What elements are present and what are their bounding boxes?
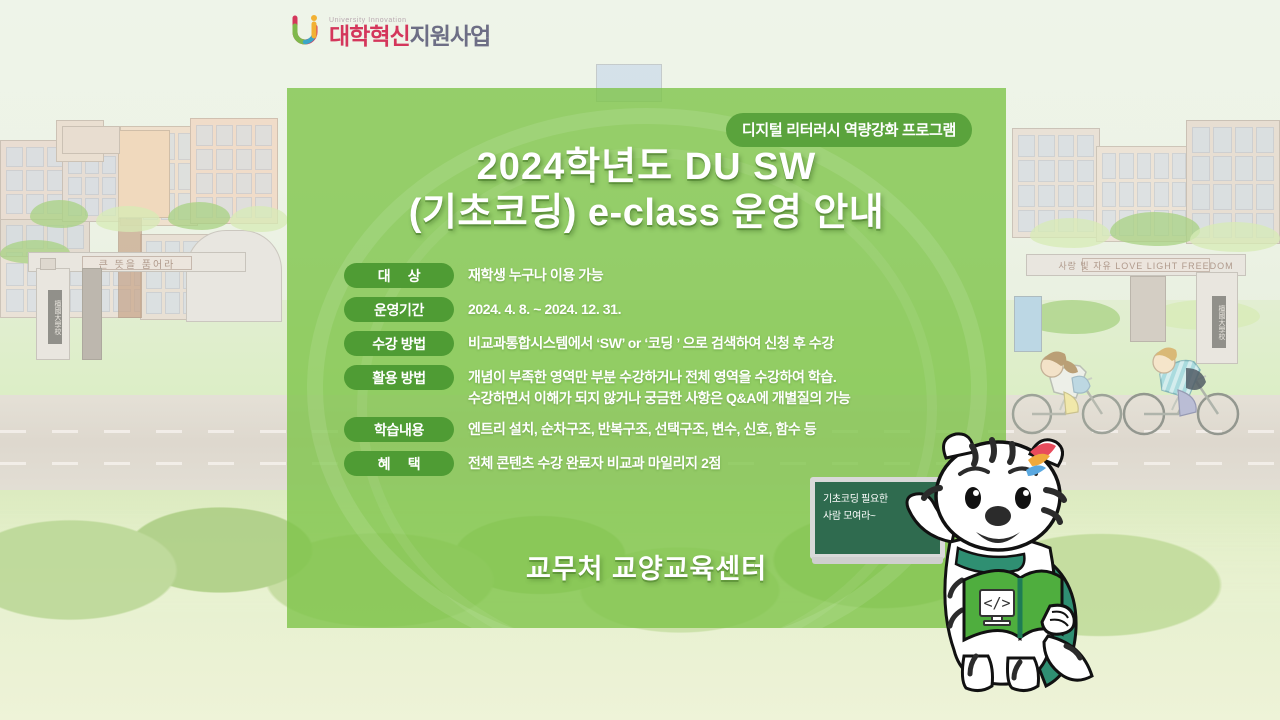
svg-text:</>: </> — [983, 594, 1010, 612]
program-badge: 디지털 리터러시 역량강화 프로그램 — [726, 113, 972, 147]
info-value: 엔트리 설치, 순차구조, 반복구조, 선택구조, 변수, 신호, 함수 등 — [454, 417, 816, 440]
gate-left-pillar-text: 檀國大學校 — [48, 290, 62, 344]
building-right-rounded — [186, 230, 282, 322]
info-label: 학습내용 — [344, 417, 454, 442]
info-value-line: 2024. 4. 8. ~ 2024. 12. 31. — [468, 299, 621, 320]
info-label: 운영기간 — [344, 297, 454, 322]
logo-title-red: 대학혁신 — [329, 23, 410, 49]
info-value: 2024. 4. 8. ~ 2024. 12. 31. — [454, 297, 621, 320]
cyclist-right — [1120, 316, 1250, 441]
gate-left-lamp — [40, 258, 56, 270]
page-title: 2024학년도 DU SW (기초코딩) e-class 운영 안내 — [287, 144, 1006, 237]
logo-title: 대학혁신지원사업 — [329, 25, 490, 48]
info-value-line: 엔트리 설치, 순차구조, 반복구조, 선택구조, 변수, 신호, 함수 등 — [468, 419, 816, 440]
info-row: 활용 방법 개념이 부족한 영역만 부분 수강하거나 전체 영역을 수강하여 학… — [344, 365, 984, 409]
info-label: 혜 택 — [344, 451, 454, 476]
info-value: 개념이 부족한 영역만 부분 수강하거나 전체 영역을 수강하여 학습. 수강하… — [454, 365, 850, 409]
shrub-1 — [30, 200, 88, 228]
shrub-7 — [1110, 212, 1200, 246]
gate-left-pillar-b — [82, 268, 102, 360]
info-label: 수강 방법 — [344, 331, 454, 356]
building-tall-beige — [62, 126, 120, 154]
info-value-line: 개념이 부족한 영역만 부분 수강하거나 전체 영역을 수강하여 학습. — [468, 367, 850, 388]
university-innovation-logo: University Innovation 대학혁신지원사업 — [292, 14, 490, 48]
info-label: 활용 방법 — [344, 365, 454, 390]
info-value-line-2: 수강하면서 이해가 되지 않거나 궁금한 사항은 Q&A에 개별질의 가능 — [468, 388, 850, 409]
gate-right-sign: 사랑 빛 자유 LOVE LIGHT FREEDOM — [1082, 258, 1210, 272]
tiger-mascot-icon: </> — [880, 430, 1125, 700]
shrub-3 — [168, 202, 230, 230]
title-line-1: 2024학년도 DU SW — [287, 144, 1006, 190]
shrub-4 — [230, 206, 288, 232]
shrub-8 — [1190, 222, 1280, 252]
shrub-2 — [96, 206, 160, 232]
u-j-logo-icon — [292, 14, 322, 48]
building-center-orange — [118, 130, 170, 218]
info-value-line: 비교과통합시스템에서 ‘SW’ or ‘코딩 ’ 으로 검색하여 신청 후 수강 — [468, 333, 834, 354]
info-row: 수강 방법 비교과통합시스템에서 ‘SW’ or ‘코딩 ’ 으로 검색하여 신… — [344, 331, 984, 356]
info-value-line: 전체 콘텐츠 수강 완료자 비교과 마일리지 2점 — [468, 453, 721, 474]
poster-root: 큰 뜻을 품어라 檀國大學校 사랑 빛 자유 LOVE LIGHT FREEDO… — [0, 0, 1280, 720]
info-row: 대 상 재학생 누구나 이용 가능 — [344, 263, 984, 288]
info-value: 재학생 누구나 이용 가능 — [454, 263, 603, 286]
info-value-line: 재학생 누구나 이용 가능 — [468, 265, 603, 286]
cyclist-left — [1010, 318, 1130, 438]
info-label: 대 상 — [344, 263, 454, 288]
title-line-2: (기초코딩) e-class 운영 안내 — [287, 190, 1006, 236]
logo-title-gray: 지원사업 — [410, 23, 491, 49]
info-row: 운영기간 2024. 4. 8. ~ 2024. 12. 31. — [344, 297, 984, 322]
info-value: 비교과통합시스템에서 ‘SW’ or ‘코딩 ’ 으로 검색하여 신청 후 수강 — [454, 331, 834, 354]
shrub-6 — [1030, 218, 1110, 248]
info-value: 전체 콘텐츠 수강 완료자 비교과 마일리지 2점 — [454, 451, 721, 474]
